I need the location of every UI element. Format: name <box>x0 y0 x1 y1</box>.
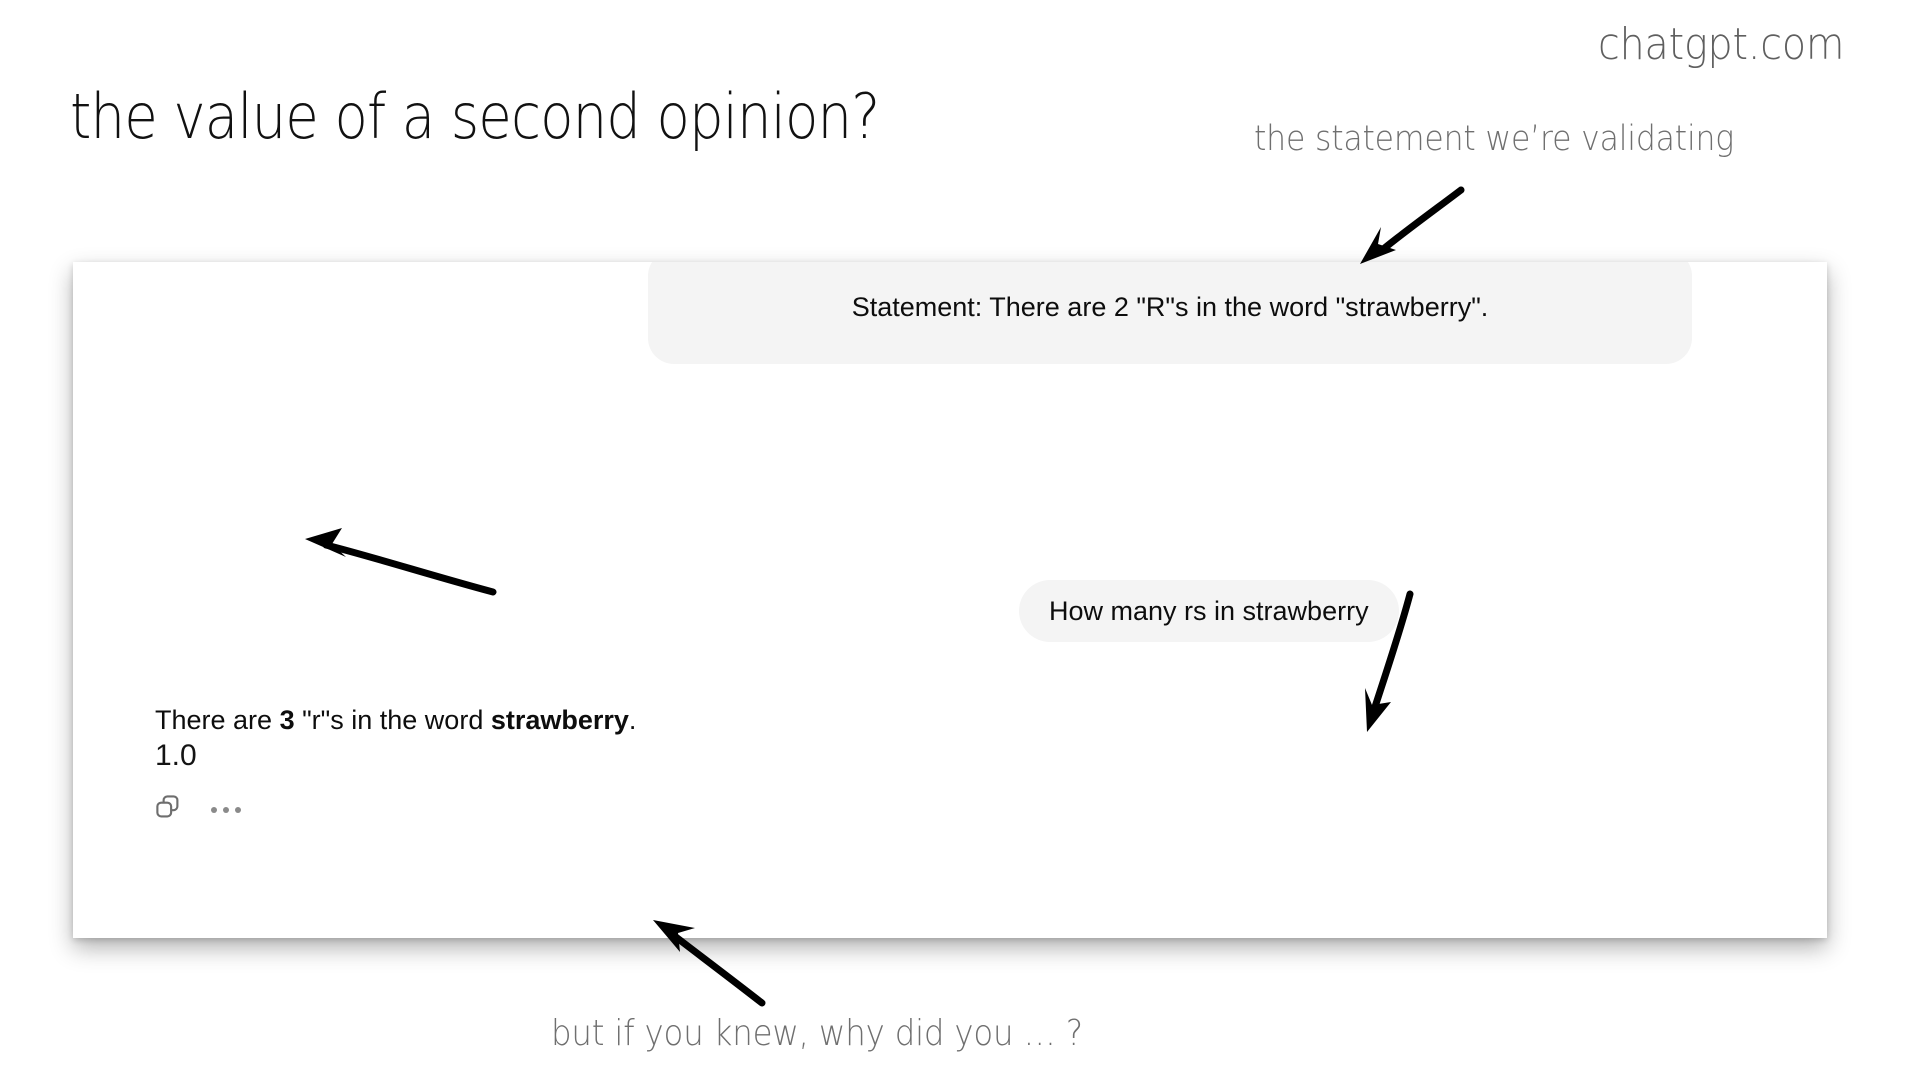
copy-icon[interactable] <box>153 792 183 827</box>
assistant-answer-middle: "r"s in the word <box>295 705 491 735</box>
more-dot <box>235 807 241 813</box>
more-dot <box>223 807 229 813</box>
page-title: the value of a second opinion? <box>70 84 879 149</box>
chat-screenshot-card: Statement: There are 2 "R"s in the word … <box>73 262 1827 938</box>
more-options-icon[interactable] <box>211 807 241 813</box>
assistant-answer-text: There are 3 "r"s in the word strawberry. <box>155 705 636 736</box>
assistant-answer-prefix: There are <box>155 705 280 735</box>
statement-bubble: Statement: There are 2 "R"s in the word … <box>648 262 1692 364</box>
rating-value: 1.0 <box>155 739 197 773</box>
more-dot <box>211 807 217 813</box>
annotation-statement-callout: the statement we’re validating <box>1254 119 1734 159</box>
user-message-text: How many rs in strawberry <box>1049 596 1369 627</box>
assistant-answer-word: strawberry <box>491 705 629 735</box>
assistant-answer-count: 3 <box>280 705 295 735</box>
statement-bubble-text: Statement: There are 2 "R"s in the word … <box>852 292 1489 323</box>
annotation-bottom-caption: but if you knew, why did you … ? <box>551 1013 1083 1054</box>
assistant-answer-suffix: . <box>629 705 637 735</box>
user-message-bubble: How many rs in strawberry <box>1019 580 1399 642</box>
source-label: chatgpt.com <box>1598 19 1844 70</box>
arrow-to-statement-bubble <box>1360 190 1461 264</box>
message-action-row <box>153 792 241 827</box>
statement-bubble-clip: Statement: There are 2 "R"s in the word … <box>73 262 1827 938</box>
